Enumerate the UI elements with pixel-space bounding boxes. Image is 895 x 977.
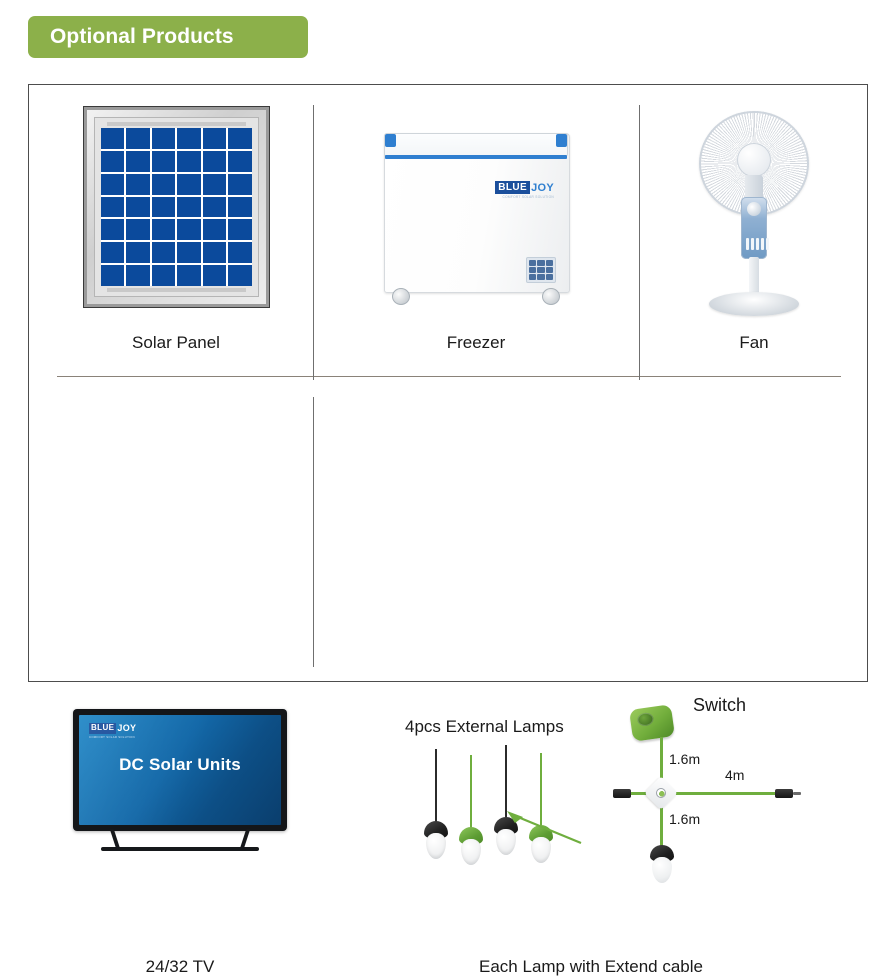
tv-leg-right [240,829,250,849]
fan-speed-knob [747,202,761,216]
product-cell-fan: Fan [639,107,869,316]
page-title: Optional Products [50,25,234,49]
freezer-wheel-left [392,288,410,305]
fan-buttons [746,238,769,250]
tv-image: BLUE JOY COMFORT SOLAR SOLUTION DC Solar… [73,709,287,851]
cable-junction [644,776,678,810]
lamp-item [421,749,451,871]
diagram-lamp [647,845,677,895]
product-label-lamps: Each Lamp with Extend cable [313,957,869,977]
dimension-label-top: 1.6m [669,751,700,767]
solar-busbar-bottom [107,288,246,292]
freezer-image: BLUE JOY COMFORT SOLAR SOLUTION [378,125,574,305]
fan-hub [737,143,771,177]
product-label-freezer: Freezer [313,333,639,353]
fan-image [679,111,829,316]
switch-button-icon [637,712,655,727]
product-cell-tv: BLUE JOY COMFORT SOLAR SOLUTION DC Solar… [47,689,313,851]
dimension-label-bottom: 1.6m [669,811,700,827]
bottom-product-row: BLUE JOY COMFORT SOLAR SOLUTION DC Solar… [29,377,867,683]
fan-control-panel [741,197,767,259]
logo-subtitle: COMFORT SOLAR SOLUTION [503,195,554,199]
lamp-bulb [461,839,481,865]
switch-wiring-diagram: Switch 1.6m 4m 1.6m [613,693,863,903]
products-panel: Solar Panel BLUE JOY COMFORT SOLAR SOLUT… [28,84,868,682]
tv-brand-logo: BLUE JOY COMFORT SOLAR SOLUTION [89,723,136,739]
cable-right [665,792,781,795]
lamp-cord [470,755,472,829]
tv-screen-text: DC Solar Units [79,755,281,775]
solar-panel-inner [94,117,259,297]
top-product-row: Solar Panel BLUE JOY COMFORT SOLAR SOLUT… [29,85,867,376]
freezer-brand-logo: BLUE JOY COMFORT SOLAR SOLUTION [495,181,554,199]
lamp-cord [505,745,507,819]
junction-indicator-icon [656,788,666,798]
section-header-badge: Optional Products [28,16,308,58]
product-label-solar-panel: Solar Panel [47,333,305,353]
freezer-lid-corner-right [556,134,567,147]
tv-stand-foot [101,847,259,851]
lamp-item [456,755,486,877]
freezer-lid [384,133,568,157]
product-label-tv: 24/32 TV [47,957,313,977]
connector-plug-right [775,789,793,798]
connector-plug-left [613,789,631,798]
product-label-fan: Fan [639,333,869,353]
freezer-control-panel [526,257,556,283]
lamp-cord [435,749,437,823]
tv-leg-left [110,829,120,849]
solar-panel-image [84,107,269,307]
solar-cell-grid [101,128,252,286]
pointer-arrow-icon [503,809,583,849]
logo-blue-text: BLUE [495,181,530,194]
logo-joy-text: JOY [531,182,554,194]
dimension-label-right: 4m [725,767,744,783]
fan-base [709,292,799,316]
switch-title: Switch [693,695,746,716]
freezer-lid-corner-left [385,134,396,147]
product-cell-solar-panel: Solar Panel [47,107,305,307]
lamps-title: 4pcs External Lamps [405,717,564,737]
lamp-bulb [652,857,672,883]
lamp-bulb [426,833,446,859]
product-cell-freezer: BLUE JOY COMFORT SOLAR SOLUTION Freezer [313,107,639,305]
solar-busbar-top [107,122,246,126]
tv-screen: BLUE JOY COMFORT SOLAR SOLUTION DC Solar… [79,715,281,825]
logo-subtitle: COMFORT SOLAR SOLUTION [89,735,135,739]
logo-joy-text: JOY [117,723,136,733]
logo-blue-text: BLUE [89,723,116,734]
switch-device [629,704,675,742]
freezer-wheel-right [542,288,560,305]
tv-frame: BLUE JOY COMFORT SOLAR SOLUTION DC Solar… [73,709,287,831]
